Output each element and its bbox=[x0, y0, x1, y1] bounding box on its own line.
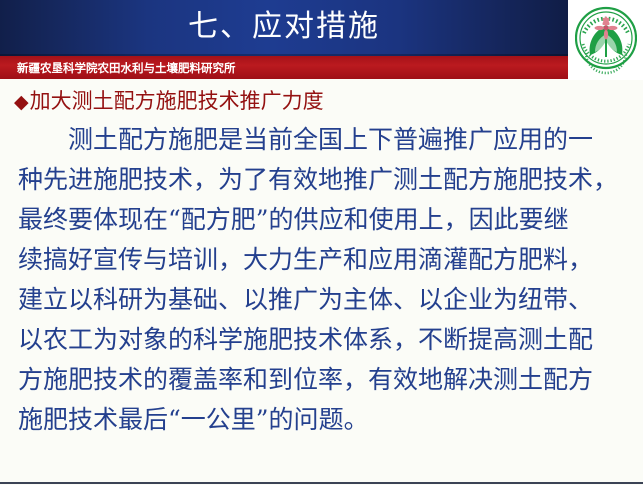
body-paragraph: 测土配方施肥是当前全国上下普遍推广应用的一 种先进施肥技术，为了有效地推广测土配… bbox=[18, 120, 630, 440]
paragraph-line: 最终要体现在“配方肥”的供应和使用上，因此要继 bbox=[18, 200, 630, 240]
institute-logo-icon bbox=[575, 3, 637, 77]
presentation-slide: 七、应对措施 新疆农垦科学院农田水利与土壤肥料研究所 bbox=[0, 0, 643, 485]
slide-title: 七、应对措施 bbox=[0, 2, 568, 52]
section-heading: ◆加大测土配方施肥技术推广力度 bbox=[14, 86, 324, 117]
organization-name: 新疆农垦科学院农田水利与土壤肥料研究所 bbox=[17, 57, 236, 79]
paragraph-line: 建立以科研为基础、以推广为主体、以企业为纽带、 bbox=[18, 280, 630, 320]
slide-body: ◆加大测土配方施肥技术推广力度 测土配方施肥是当前全国上下普遍推广应用的一 种先… bbox=[0, 80, 643, 480]
slide-header: 七、应对措施 新疆农垦科学院农田水利与土壤肥料研究所 bbox=[0, 0, 643, 80]
paragraph-line: 方施肥技术的覆盖率和到位率，有效地解决测土配方 bbox=[18, 360, 630, 400]
paragraph-line: 施肥技术最后“一公里”的问题。 bbox=[18, 400, 630, 440]
paragraph-line: 测土配方施肥是当前全国上下普遍推广应用的一 bbox=[18, 120, 630, 160]
bottom-divider bbox=[0, 482, 643, 484]
diamond-bullet-icon: ◆ bbox=[14, 91, 30, 113]
paragraph-line: 种先进施肥技术，为了有效地推广测土配方施肥技术， bbox=[18, 160, 630, 200]
paragraph-line: 以农工为对象的科学施肥技术体系，不断提高测土配 bbox=[18, 320, 630, 360]
section-heading-text: 加大测土配方施肥技术推广力度 bbox=[30, 89, 324, 113]
paragraph-line: 续搞好宣传与培训，大力生产和应用滴灌配方肥料， bbox=[18, 240, 630, 280]
